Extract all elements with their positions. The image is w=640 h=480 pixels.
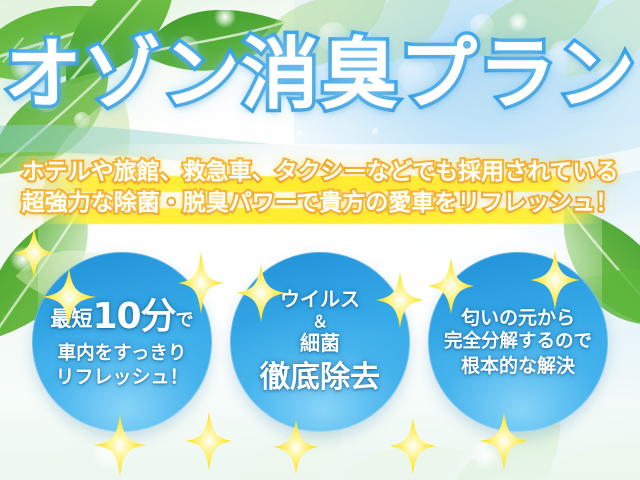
bokeh-circle xyxy=(372,128,379,135)
feature-line-virus-3: 細菌 xyxy=(300,331,340,357)
subtitle-line-1: ホテルや旅館、救急車、タクシーなどでも採用されている xyxy=(0,157,640,188)
feature-circle-odor[interactable]: 匂いの元から 完全分解するので 根本的な解決 xyxy=(428,252,608,432)
feature-circle-virus[interactable]: ウイルス ＆ 細菌 徹底除去 xyxy=(230,252,410,432)
feature-line-speed-3: リフレッシュ！ xyxy=(55,365,188,389)
bokeh-circle xyxy=(190,124,199,133)
feature-line-odor-1: 匂いの元から xyxy=(461,306,575,330)
feature-line-virus-4: 徹底除去 xyxy=(260,359,380,397)
subtitle-line-2: 超強力な除菌・脱臭パワーで貴方の愛車をリフレッシュ！ xyxy=(0,188,640,219)
feature-text-saitan: 最短 xyxy=(50,307,92,331)
feature-line-odor-2: 完全分解するので xyxy=(444,330,592,354)
banner-title-area: オゾン消臭プラン xyxy=(0,36,640,114)
feature-text-de: で xyxy=(176,310,194,331)
feature-circles: 最短10分で 車内をすっきり リフレッシュ！ ウイルス ＆ 細菌 徹底除去 匂い… xyxy=(0,252,640,432)
feature-line-virus-amp: ＆ xyxy=(312,313,328,331)
feature-line-odor-3: 根本的な解決 xyxy=(461,354,575,378)
feature-line-speed-1: 最短10分で xyxy=(50,294,193,340)
feature-circle-speed[interactable]: 最短10分で 車内をすっきり リフレッシュ！ xyxy=(32,252,212,432)
feature-text-10min: 10分 xyxy=(92,296,175,337)
banner-subtitle-area: ホテルや旅館、救急車、タクシーなどでも採用されている 超強力な除菌・脱臭パワーで… xyxy=(0,157,640,219)
bokeh-circle xyxy=(296,130,304,138)
banner-title: オゾン消臭プラン xyxy=(4,36,636,114)
feature-line-speed-2: 車内をすっきり xyxy=(58,342,187,366)
feature-line-virus-1: ウイルス xyxy=(280,287,360,313)
ozone-deodorizing-plan-banner: オゾン消臭プラン ホテルや旅館、救急車、タクシーなどでも採用されている 超強力な… xyxy=(0,0,640,480)
